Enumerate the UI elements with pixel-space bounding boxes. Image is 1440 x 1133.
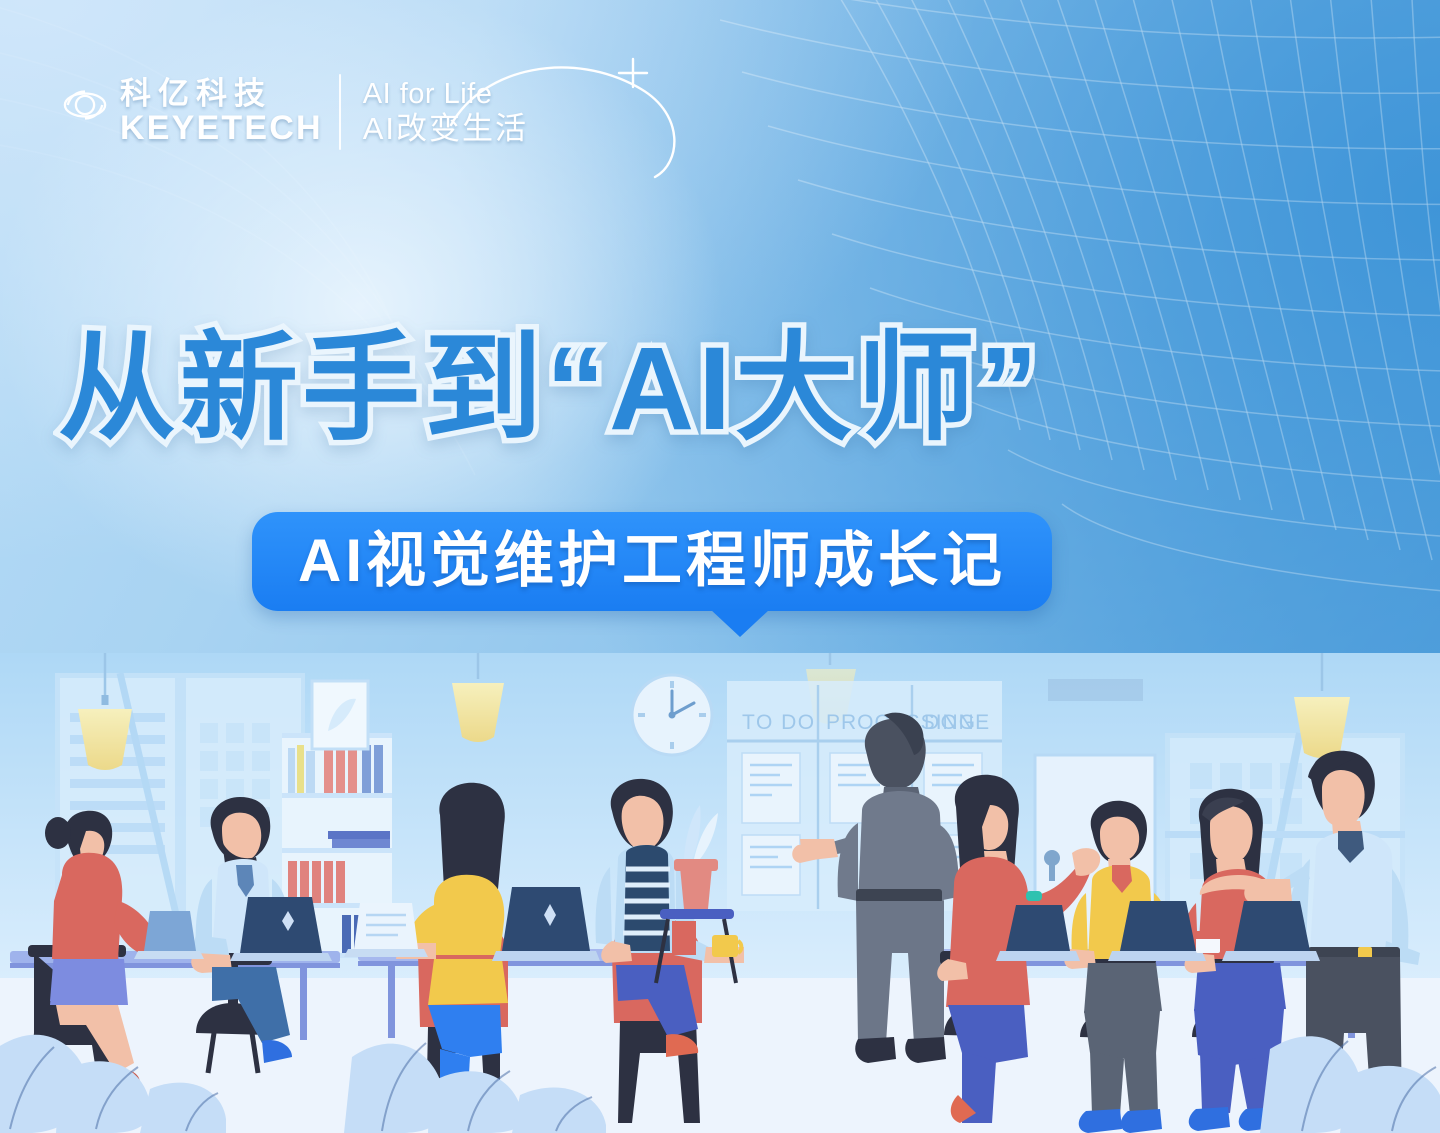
kanban-column-done: DONE [924, 711, 991, 734]
wall-clock-icon [632, 675, 712, 755]
brand-name-cn: 科亿科技 [120, 78, 323, 111]
brand-wordmark: 科亿科技 KEYETECH [120, 78, 323, 147]
subtitle-banner-body: AI视觉维护工程师成长记 [252, 512, 1052, 611]
coffee-mug-icon [712, 935, 741, 957]
kanban-column-todo: TO DO [742, 711, 816, 734]
eye-icon [62, 82, 108, 128]
slogan-cn: AI改变生活 [363, 111, 528, 148]
coffee-mug-icon [672, 921, 696, 955]
subtitle-text: AI视觉维护工程师成长记 [298, 527, 1006, 594]
desk-calendar-icon [1196, 931, 1220, 953]
subtitle-banner: AI视觉维护工程师成长记 [252, 512, 1052, 611]
office-illustration: TO DO PROCESSING DONE [0, 653, 1440, 1133]
logo-divider [339, 74, 341, 150]
page-title: 从新手到“AI大师” [58, 330, 1388, 448]
brand-slogan: AI for Life AI改变生活 [363, 77, 528, 148]
poster-canvas: 科亿科技 KEYETECH AI for Life AI改变生活 从新手到“AI… [0, 0, 1440, 1133]
brand-logo: 科亿科技 KEYETECH AI for Life AI改变生活 [62, 74, 528, 150]
picture-frame-icon [312, 681, 368, 749]
page-title-text: 从新手到“AI大师” [58, 323, 1042, 455]
slogan-en: AI for Life [363, 77, 528, 111]
brand-name-en: KEYETECH [120, 111, 323, 147]
subtitle-banner-tail [710, 609, 770, 637]
